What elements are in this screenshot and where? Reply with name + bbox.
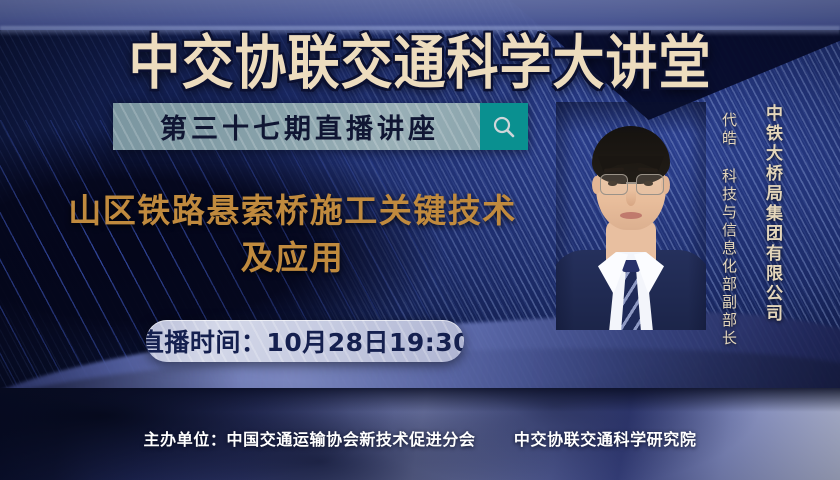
footer-organizers: 主办单位：中国交通运输协会新技术促进分会 中交协联交通科学研究院 [0,426,840,450]
episode-label: 第三十七期直播讲座 [154,107,439,146]
search-icon [491,114,517,140]
speaker-name: 代皓 [719,112,740,148]
broadcast-time-label: 直播时间：10月28日19:30 [146,323,464,359]
headline-line-1: 山区铁路悬索桥施工关键技术 [20,188,565,235]
episode-banner-body: 第三十七期直播讲座 [113,103,480,150]
episode-banner: 第三十七期直播讲座 [113,103,528,150]
speaker-job-title: 科技与信息化部副部长 [719,168,740,348]
footer-organizer-label: 主办单位：中国交通运输协会新技术促进分会 [144,430,476,449]
webinar-poster: 中交协联交通科学大讲堂 第三十七期直播讲座 山区铁路悬索桥施工关键技术 及应用 … [0,0,840,480]
portrait-edge-fade [556,102,706,330]
headline-line-2: 及应用 [20,235,565,282]
broadcast-time-badge: 直播时间：10月28日19:30 [146,320,464,362]
speaker-portrait [556,102,706,330]
speaker-organization: 中铁大桥局集团有限公司 [760,104,785,324]
lecture-headline: 山区铁路悬索桥施工关键技术 及应用 [20,188,565,282]
page-title: 中交协联交通科学大讲堂 [0,16,840,100]
search-button[interactable] [480,103,528,150]
footer-institute: 中交协联交通科学研究院 [514,430,697,449]
